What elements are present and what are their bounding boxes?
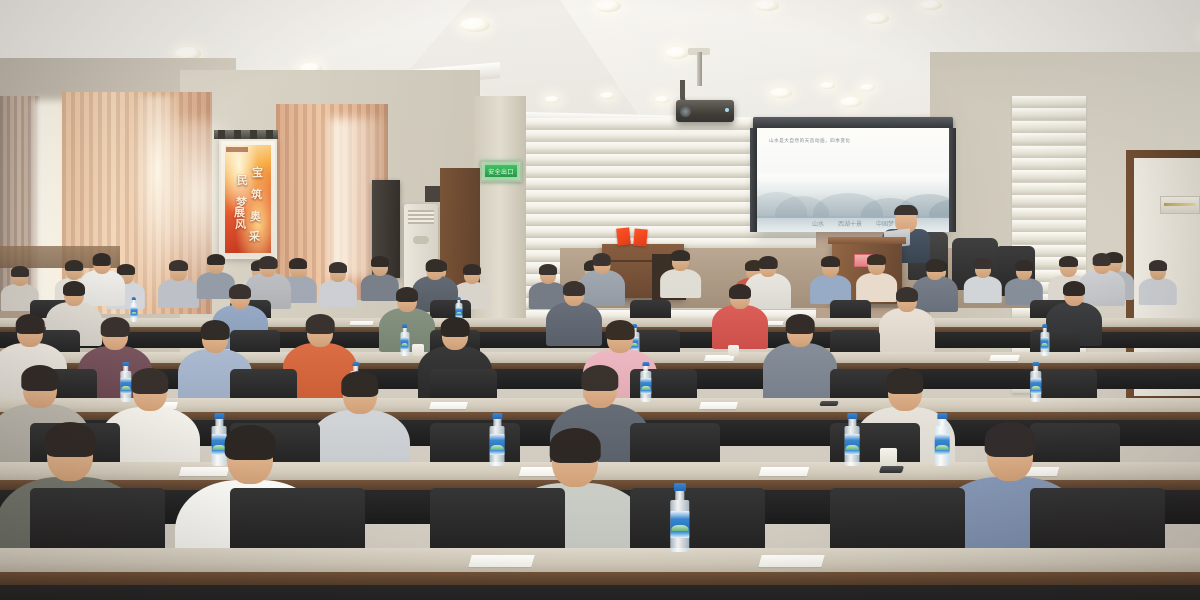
bottle-r1-4-label-mountain xyxy=(1041,343,1048,346)
slide-title: 山水是大自然的天造动画，四季变化 xyxy=(769,138,899,144)
far-person-9 xyxy=(361,274,399,301)
downlight-soffit-6 xyxy=(655,96,670,103)
bottle-r0-2-label xyxy=(455,307,462,317)
downlight-6 xyxy=(665,47,689,59)
projection-screen: 山水是大自然的天造动画，四季变化 山水 西湖十景 中国梦 xyxy=(757,128,949,232)
wall-slat-right-7 xyxy=(1012,170,1086,182)
ac-grill xyxy=(408,210,434,224)
paper-handout-r2-2 xyxy=(429,402,468,409)
bottle-r1-4-label xyxy=(1040,337,1049,350)
downlight-9 xyxy=(840,97,862,107)
bottle-r4-1 xyxy=(670,483,690,552)
banner-char-7: 采 xyxy=(249,231,260,242)
audience-person-hair-r1-3 xyxy=(396,287,418,302)
far-hair-19 xyxy=(974,258,992,269)
wall-slat-right-2 xyxy=(1012,108,1086,120)
bottle-r3-3-label-mountain xyxy=(846,445,859,450)
podium-top xyxy=(828,237,906,244)
far-hair-16 xyxy=(821,256,840,267)
ac-control-panel[interactable] xyxy=(413,236,429,244)
audience-person-hair-r2-4 xyxy=(306,314,335,334)
audience-person-hair-r0-7 xyxy=(1092,253,1111,266)
far-hair-4 xyxy=(169,260,188,271)
conference-hall-photo: 宝民筑梦奥风采展 安全出口 山水是大自然的天造动画，四季变化 山水 西湖十景 中… xyxy=(0,0,1200,600)
bottle-r2-4-label-mountain xyxy=(1031,386,1040,390)
paper-handout-r0-1 xyxy=(349,321,373,325)
audience-person-torso-r0-1 xyxy=(79,270,125,306)
bottle-r2-3-label xyxy=(640,378,651,394)
far-hair-23 xyxy=(1149,260,1167,271)
presenter-hair xyxy=(894,205,918,215)
far-person-17 xyxy=(856,273,897,302)
wall-slat-right-11 xyxy=(1012,220,1086,232)
wall-slat-right-3 xyxy=(1012,121,1086,133)
downlight-11 xyxy=(920,0,942,10)
audience-person-torso-r0-4 xyxy=(579,270,625,306)
audience-person-torso-r1-5 xyxy=(712,305,768,349)
wall-slat-right-5 xyxy=(1012,146,1086,158)
bottle-r0-2-label-mountain xyxy=(456,312,461,314)
audience-person-hair-r4-4 xyxy=(985,422,1036,458)
desk-front-panel-5 xyxy=(0,585,1200,600)
paper-handout-r3-3 xyxy=(759,467,810,476)
banner-rail xyxy=(214,130,278,139)
downlight-8 xyxy=(770,88,792,98)
screen-edge-right xyxy=(949,128,956,232)
bottle-r2-4 xyxy=(1030,362,1041,402)
audience-person-torso-r1-4 xyxy=(546,302,602,346)
paper-handout-r4-1 xyxy=(468,555,534,567)
smartphone-r2-1 xyxy=(819,401,838,406)
audience-person-hair-r4-3 xyxy=(550,428,601,464)
far-hair-2 xyxy=(65,260,83,271)
audience-person-hair-r4-1 xyxy=(45,422,96,458)
paper-cup-r3-1 xyxy=(880,448,897,466)
bottle-r3-2-label xyxy=(490,434,505,455)
banner-char-1: 宝 xyxy=(252,167,263,178)
bottle-r3-2 xyxy=(490,413,505,466)
paper-handout-r3-1 xyxy=(179,467,230,476)
audience-person-hair-r0-3 xyxy=(426,259,445,272)
audience-person-hair-r3-1 xyxy=(21,365,58,391)
banner-hook-1 xyxy=(218,130,225,139)
bottle-r2-1 xyxy=(120,362,131,402)
far-hair-14 xyxy=(671,250,690,261)
banner-char-5: 奥 xyxy=(250,211,261,222)
bottle-r3-3 xyxy=(845,413,860,466)
wall-slat-right-4 xyxy=(1012,133,1086,145)
bottle-r0-1 xyxy=(130,297,137,322)
banner-hook-2 xyxy=(234,130,241,139)
far-hair-21 xyxy=(1059,256,1078,267)
audience-person-torso-r2-7 xyxy=(763,343,837,401)
far-hair-9 xyxy=(371,256,389,267)
bottle-r3-3-label xyxy=(845,434,860,455)
red-flag-right xyxy=(633,228,647,246)
far-hair-8 xyxy=(329,262,347,273)
audience-person-hair-r2-1 xyxy=(16,314,45,334)
bottle-r3-4-label-mountain xyxy=(936,445,949,450)
downlight-soffit-5 xyxy=(600,92,615,99)
audience-person-hair-r2-7 xyxy=(786,314,815,334)
paper-cup-r1-2 xyxy=(728,345,739,356)
wall-banner-poster: 宝民筑梦奥风采展 xyxy=(219,139,277,259)
wall-slat-right-6 xyxy=(1012,158,1086,170)
bottle-r2-1-label xyxy=(120,378,131,394)
bottle-r3-4-label xyxy=(935,434,950,455)
bottle-r1-4 xyxy=(1040,324,1049,356)
paper-handout-r2-3 xyxy=(699,402,738,409)
bottle-r3-4 xyxy=(935,413,950,466)
wall-mounted-plaque xyxy=(1160,196,1200,214)
far-hair-5 xyxy=(207,254,225,265)
audience-person-hair-r0-4 xyxy=(592,253,611,266)
downlight-7 xyxy=(755,0,779,11)
bottle-r3-2-label-mountain xyxy=(491,445,504,450)
bottle-r0-1-label xyxy=(130,307,137,317)
downlight-10 xyxy=(865,13,889,24)
bottle-r1-2-label-mountain xyxy=(401,343,408,346)
audience-person-hair-r1-2 xyxy=(229,284,251,299)
wall-slat-right-1 xyxy=(1012,96,1086,108)
exit-sign-label: 安全出口 xyxy=(488,167,514,176)
far-person-23 xyxy=(1139,278,1177,305)
bottle-r4-1-label-mountain xyxy=(671,525,688,531)
screen-edge-left xyxy=(750,128,757,232)
downlight-soffit-4 xyxy=(545,96,560,103)
smartphone-r3-2 xyxy=(879,466,904,473)
audience-person-hair-r4-2 xyxy=(225,425,276,461)
audience-person-torso-r0-6 xyxy=(912,276,958,312)
bottle-r2-4-label xyxy=(1030,378,1041,394)
audience-person-hair-r2-3 xyxy=(201,320,230,340)
audience-person-hair-r0-6 xyxy=(926,259,945,272)
far-hair-12 xyxy=(539,264,557,275)
paper-handout-r4-2 xyxy=(758,555,824,567)
downlight-soffit-7 xyxy=(820,82,835,89)
far-person-14 xyxy=(660,269,701,298)
banner-header-bar xyxy=(226,147,248,152)
desk-surface-5 xyxy=(0,548,1200,572)
banner-hook-4 xyxy=(266,130,273,139)
wall-slat-right-12 xyxy=(1012,232,1086,244)
far-hair-7 xyxy=(289,258,307,269)
far-person-4 xyxy=(158,279,199,308)
banner-char-2: 民 xyxy=(237,175,248,186)
far-person-8 xyxy=(319,280,357,307)
audience-person-hair-r2-5 xyxy=(441,317,470,337)
audience-person-hair-r3-2 xyxy=(131,368,168,394)
exit-sign: 安全出口 xyxy=(480,160,522,182)
banner-char-8: 展 xyxy=(234,207,245,218)
bottle-r2-3-label-mountain xyxy=(641,386,650,390)
bottle-r4-1-label xyxy=(670,511,689,539)
audience-person-hair-r1-5 xyxy=(729,284,751,299)
audience-person-hair-r0-2 xyxy=(259,256,278,269)
audience-person-hair-r3-4 xyxy=(581,365,618,391)
audience-person-hair-r0-5 xyxy=(759,256,778,269)
wall-slat-right-9 xyxy=(1012,195,1086,207)
far-hair-11 xyxy=(463,264,481,275)
desk-edge-5 xyxy=(0,572,1200,585)
audience-person-hair-r1-7 xyxy=(1063,281,1085,296)
bottle-r2-1-label-mountain xyxy=(121,386,130,390)
audience-person-hair-r1-6 xyxy=(896,287,918,302)
audience-person-torso-r0-7 xyxy=(1079,270,1125,306)
banner-artwork: 宝民筑梦奥风采展 xyxy=(225,145,271,253)
bottle-r4-1-cap xyxy=(674,483,686,491)
downlight-soffit-8 xyxy=(860,84,875,91)
far-person-19 xyxy=(964,276,1002,303)
audience-person-hair-r3-3 xyxy=(341,371,378,397)
audience-person-hair-r1-4 xyxy=(563,281,585,296)
audience-person-torso-r0-5 xyxy=(745,273,791,309)
projector xyxy=(676,100,734,122)
banner-char-3: 筑 xyxy=(251,189,262,200)
bottle-r0-1-label-mountain xyxy=(131,312,136,314)
projector-lens-icon xyxy=(680,106,691,117)
audience-person-torso-r1-6 xyxy=(879,308,935,352)
projector-status-led-icon xyxy=(725,108,729,112)
desk-row-5 xyxy=(0,548,1200,600)
audience-person-hair-r1-1 xyxy=(63,281,85,296)
far-hair-3 xyxy=(117,264,135,275)
audience-person-hair-r2-2 xyxy=(101,317,130,337)
audience-person-hair-r3-5 xyxy=(886,368,923,394)
wall-slat-right-8 xyxy=(1012,183,1086,195)
audience-person-hair-r2-6 xyxy=(606,320,635,340)
wall-slat-right-10 xyxy=(1012,208,1086,220)
downlight-5 xyxy=(595,0,621,12)
exit-sign-face: 安全出口 xyxy=(485,165,517,177)
banner-hook-3 xyxy=(250,130,257,139)
red-flag-left xyxy=(616,227,631,245)
audience-person-hair-r0-1 xyxy=(92,253,111,266)
banner-char-6: 风 xyxy=(235,219,246,230)
bottle-r2-3 xyxy=(640,362,651,402)
far-hair-1 xyxy=(11,266,29,277)
paper-handout-r1-3 xyxy=(989,355,1020,361)
bottle-r1-2 xyxy=(400,324,409,356)
far-hair-17 xyxy=(867,254,886,265)
downlight-3 xyxy=(460,18,490,32)
paper-cup-r1-1 xyxy=(412,344,424,356)
bottle-r1-2-label xyxy=(400,337,409,350)
far-hair-20 xyxy=(1015,260,1033,271)
plaque-strip xyxy=(1164,203,1196,206)
